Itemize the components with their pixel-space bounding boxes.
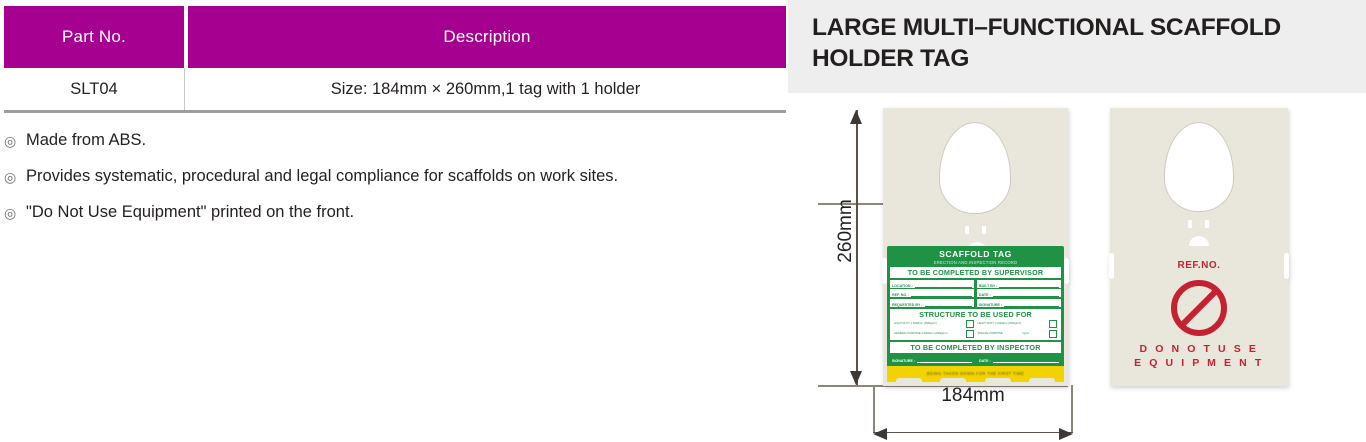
option-label: GENERAL PURPOSE 2.00kN/m² (200kg/m²) <box>894 332 948 335</box>
field-rule <box>925 301 973 307</box>
form-field: DATE : <box>977 355 1061 363</box>
form-field: REQUESTED BY : <box>890 299 974 307</box>
dimension-line-horizontal <box>873 432 1073 434</box>
structure-usage-section: STRUCTURE TO BE USED FOR LIGHT DUTY 1.50… <box>890 309 1061 340</box>
field-label: DATE : <box>979 293 991 297</box>
field-rule <box>911 291 972 297</box>
option-row: LIGHT DUTY 1.50kN/m² (150kg/m²) <box>894 320 974 328</box>
title-panel: LARGE MULTI–FUNCTIONAL SCAFFOLD HOLDER T… <box>788 0 1366 93</box>
field-label: LOCATION : <box>892 284 913 288</box>
checkbox[interactable] <box>1049 320 1057 328</box>
option-row: GENERAL PURPOSE 2.00kN/m² (200kg/m²) <box>894 330 974 338</box>
field-rule <box>993 291 1059 297</box>
feature-text: Provides systematic, procedural and lega… <box>26 164 782 188</box>
field-rule <box>915 282 972 288</box>
warning-line-2: E Q U I P M E N T <box>1110 356 1288 370</box>
option-label: LIGHT DUTY 1.50kN/m² (150kg/m²) <box>894 322 937 325</box>
tag-slot <box>1188 220 1192 228</box>
cell-description: Size: 184mm × 260mm,1 tag with 1 holder <box>185 68 786 110</box>
list-item: ◎ Made from ABS. <box>4 128 782 153</box>
option-column-left: LIGHT DUTY 1.50kN/m² (150kg/m²) GENERAL … <box>892 320 976 338</box>
tab <box>1256 378 1282 386</box>
form-field: REF. NO. : <box>890 289 974 297</box>
prohibition-sign-icon <box>1171 280 1227 336</box>
field-label: REF. NO. : <box>892 293 909 297</box>
checkbox[interactable] <box>966 320 974 328</box>
double-circle-bullet-icon: ◎ <box>4 164 26 189</box>
form-field: LOCATION : <box>890 280 974 288</box>
feature-text: Made from ABS. <box>26 128 782 152</box>
checkbox[interactable] <box>1049 330 1057 338</box>
list-item: ◎ Provides systematic, procedural and le… <box>4 164 782 189</box>
option-row: SPECIAL PURPOSE kg/m² <box>978 330 1058 338</box>
table-header-row: Part No. Description <box>4 6 786 68</box>
list-item: ◎ "Do Not Use Equipment" printed on the … <box>4 200 782 225</box>
product-showcase-column: LARGE MULTI–FUNCTIONAL SCAFFOLD HOLDER T… <box>788 0 1366 442</box>
field-rule <box>1004 301 1059 307</box>
feature-list: ◎ Made from ABS. ◎ Provides systematic, … <box>4 128 782 236</box>
spec-table: Part No. Description SLT04 Size: 184mm ×… <box>4 6 786 113</box>
dimension-width: 184mm <box>873 383 1073 441</box>
tag-slot <box>965 226 969 234</box>
form-field: SIGNATURE : <box>977 299 1061 307</box>
column-header-part-no: Part No. <box>4 6 184 68</box>
column-header-description: Description <box>188 6 786 68</box>
feature-text: "Do Not Use Equipment" printed on the fr… <box>26 200 782 224</box>
field-rule <box>999 282 1059 288</box>
product-image: 260mm SCAFFOLD TAG ERECTION AND INSPECTI… <box>788 93 1366 442</box>
arrow-right-icon <box>1059 428 1073 440</box>
form-field: SIGNATURE : <box>890 355 974 363</box>
form-field: DATE : <box>977 289 1061 297</box>
warning-text: D O N O T U S E E Q U I P M E N T <box>1110 342 1288 370</box>
side-notch <box>1064 258 1069 284</box>
supervisor-band: TO BE COMPLETED BY SUPERVISOR <box>890 267 1061 278</box>
structure-heading: STRUCTURE TO BE USED FOR <box>892 310 1059 319</box>
option-row: HEAVY DUTY 2.00kN/m² (200kg/m²) <box>978 320 1058 328</box>
dimension-height: 260mm <box>828 110 888 385</box>
page-title: LARGE MULTI–FUNCTIONAL SCAFFOLD HOLDER T… <box>812 12 1332 74</box>
double-circle-bullet-icon: ◎ <box>4 128 26 153</box>
field-label: SIGNATURE : <box>979 303 1002 307</box>
checkbox[interactable] <box>966 330 974 338</box>
option-label: SPECIAL PURPOSE <box>978 332 1003 335</box>
double-circle-bullet-icon: ◎ <box>4 200 26 225</box>
option-label: HEAVY DUTY 2.00kN/m² (200kg/m²) <box>978 322 1022 325</box>
tab <box>1212 378 1238 386</box>
field-row: REF. NO. : DATE : <box>890 289 1061 297</box>
tab <box>1167 378 1193 386</box>
field-row: REQUESTED BY : SIGNATURE : <box>890 299 1061 307</box>
field-label: SIGNATURE : <box>892 359 915 363</box>
tag-slot <box>1205 220 1209 228</box>
cell-part-no: SLT04 <box>4 68 185 110</box>
field-label: REQUESTED BY : <box>892 303 923 307</box>
arrow-up-icon <box>850 110 862 124</box>
insert-subtitle: ERECTION AND INSPECTION RECORD <box>887 260 1064 265</box>
tag-slot <box>982 226 986 234</box>
tab <box>1123 378 1149 386</box>
scaffold-tag-insert-card: SCAFFOLD TAG ERECTION AND INSPECTION REC… <box>887 246 1064 370</box>
field-rule <box>917 357 972 363</box>
insert-title: SCAFFOLD TAG <box>887 249 1064 259</box>
dimension-label-width: 184mm <box>873 385 1073 407</box>
dimension-label-height: 260mm <box>835 171 857 291</box>
field-label: BUILT BY : <box>979 284 997 288</box>
field-rule <box>993 357 1059 363</box>
option-column-right: HEAVY DUTY 2.00kN/m² (200kg/m²) SPECIAL … <box>976 320 1060 338</box>
product-info-column: Part No. Description SLT04 Size: 184mm ×… <box>0 0 790 442</box>
field-row: SIGNATURE : DATE : <box>890 355 1061 363</box>
scaffold-tag-back: REF.NO. D O N O T U S E E Q U I P M E N … <box>1110 108 1288 386</box>
structure-options: LIGHT DUTY 1.50kN/m² (150kg/m²) GENERAL … <box>892 320 1059 338</box>
yellow-strip-text: BEING TAKEN DOWN FOR THE FIRST TIME <box>887 371 1064 376</box>
tag-bottom-tabs <box>1114 377 1291 386</box>
arrow-left-icon <box>873 428 887 440</box>
option-unit: kg/m² <box>1022 332 1029 335</box>
field-row: LOCATION : BUILT BY : <box>890 280 1061 288</box>
inspector-band: TO BE COMPLETED BY INSPECTOR <box>890 342 1061 353</box>
ref-no-label: REF.NO. <box>1110 260 1288 271</box>
arrow-down-icon <box>850 371 862 385</box>
field-label: DATE : <box>979 359 991 363</box>
warning-line-1: D O N O T U S E <box>1110 342 1288 356</box>
scaffold-tag-front: SCAFFOLD TAG ERECTION AND INSPECTION REC… <box>883 108 1068 386</box>
form-field: BUILT BY : <box>977 280 1061 288</box>
table-row: SLT04 Size: 184mm × 260mm,1 tag with 1 h… <box>4 68 786 113</box>
